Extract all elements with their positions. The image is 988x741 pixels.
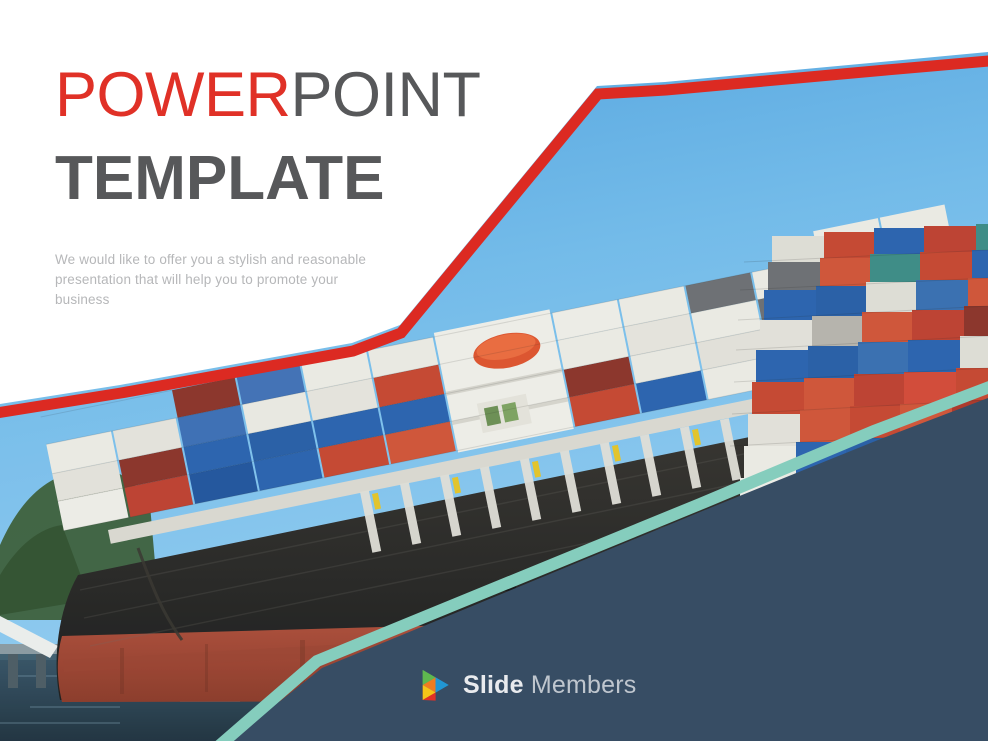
slide-members-logo-mark: [420, 668, 454, 702]
page-title-line1: POWERPOINT: [55, 58, 525, 133]
page-title-line2: TEMPLATE: [55, 141, 525, 216]
title-plain-word: POINT: [291, 60, 481, 130]
brand-logo-text: Slide Members: [463, 673, 636, 698]
brand-logo[interactable]: Slide Members: [420, 668, 636, 702]
presentation-slide: POWERPOINT TEMPLATE We would like to off…: [0, 0, 988, 741]
title-block: POWERPOINT TEMPLATE We would like to off…: [55, 58, 525, 310]
brand-name-light: Members: [524, 671, 637, 699]
subtitle-text: We would like to offer you a stylish and…: [55, 250, 395, 310]
brand-name-bold: Slide: [463, 671, 524, 699]
title-accent-word: POWER: [55, 60, 291, 130]
